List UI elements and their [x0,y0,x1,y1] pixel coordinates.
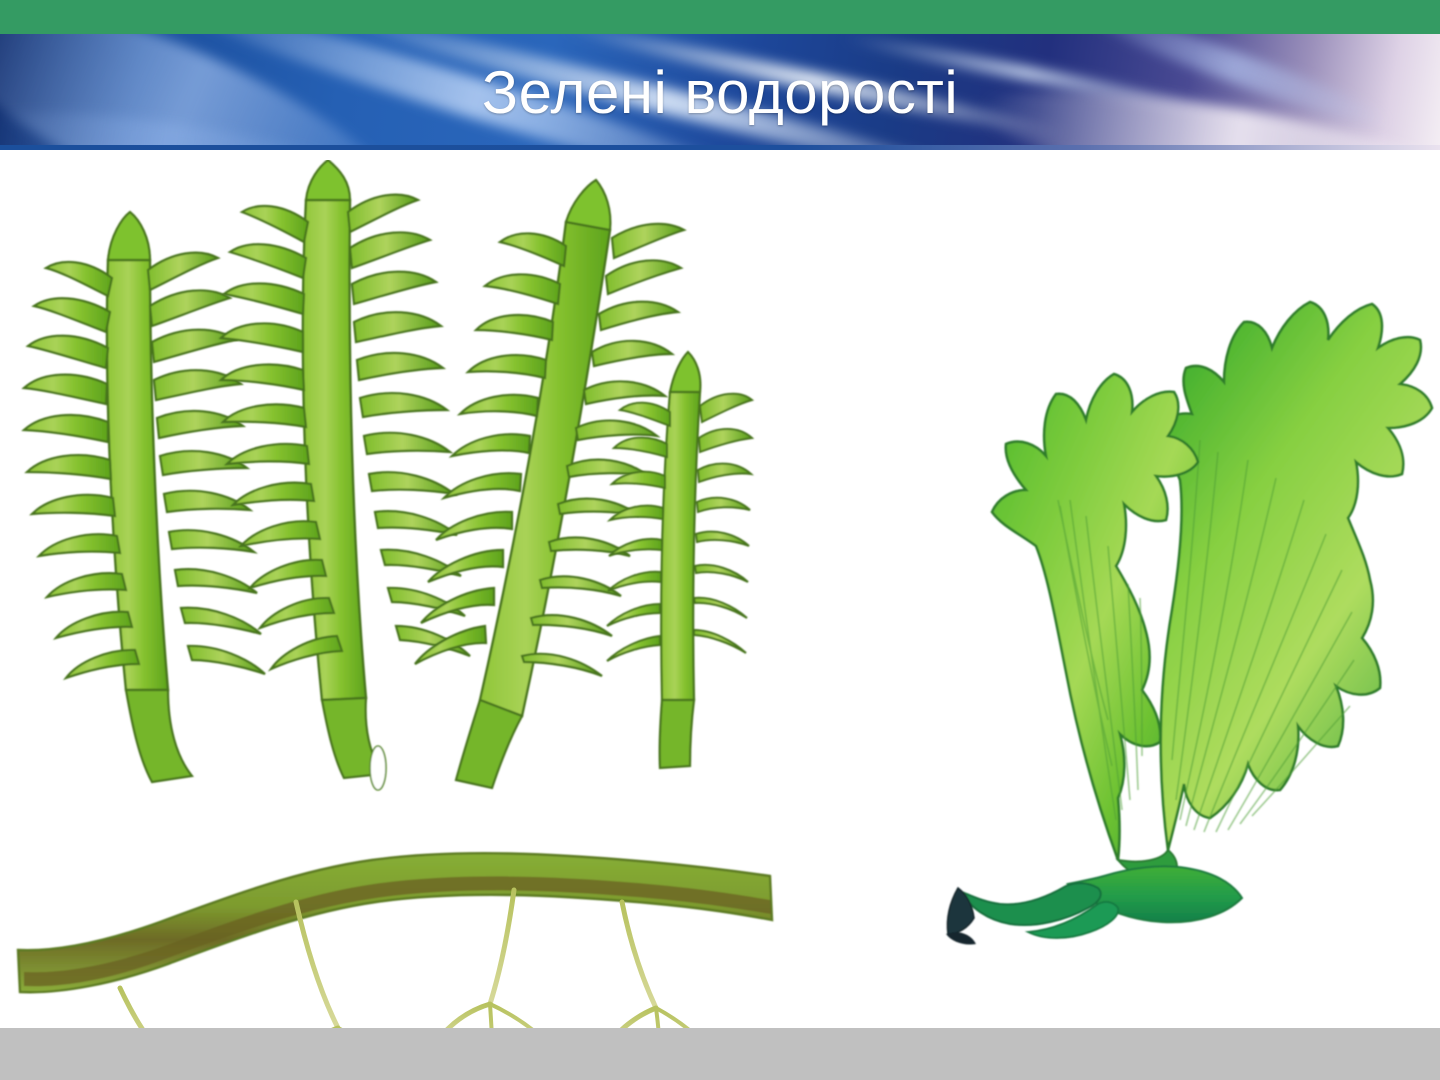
caulerpa-illustration [0,160,790,1028]
rhizoid-cluster-1 [80,988,262,1028]
slide: Зелені водорості [0,0,1440,1080]
rhizoid-cluster-3 [427,890,584,1028]
rhizoid-cluster-4 [595,902,742,1028]
frond-2 [221,160,470,790]
top-accent-strip [0,0,1440,34]
banner-bottom-edge [0,145,1440,150]
stolon [18,853,772,992]
content-area [0,150,1440,1028]
frond-1 [24,212,265,782]
ulva-lobe-right [1156,302,1432,850]
ulva-base [946,850,1242,945]
banner-silk-streaks [0,34,1440,150]
frond-4 [607,352,752,768]
footer-bar [0,1028,1440,1080]
ulva-illustration [880,160,1440,1028]
title-banner [0,34,1440,150]
